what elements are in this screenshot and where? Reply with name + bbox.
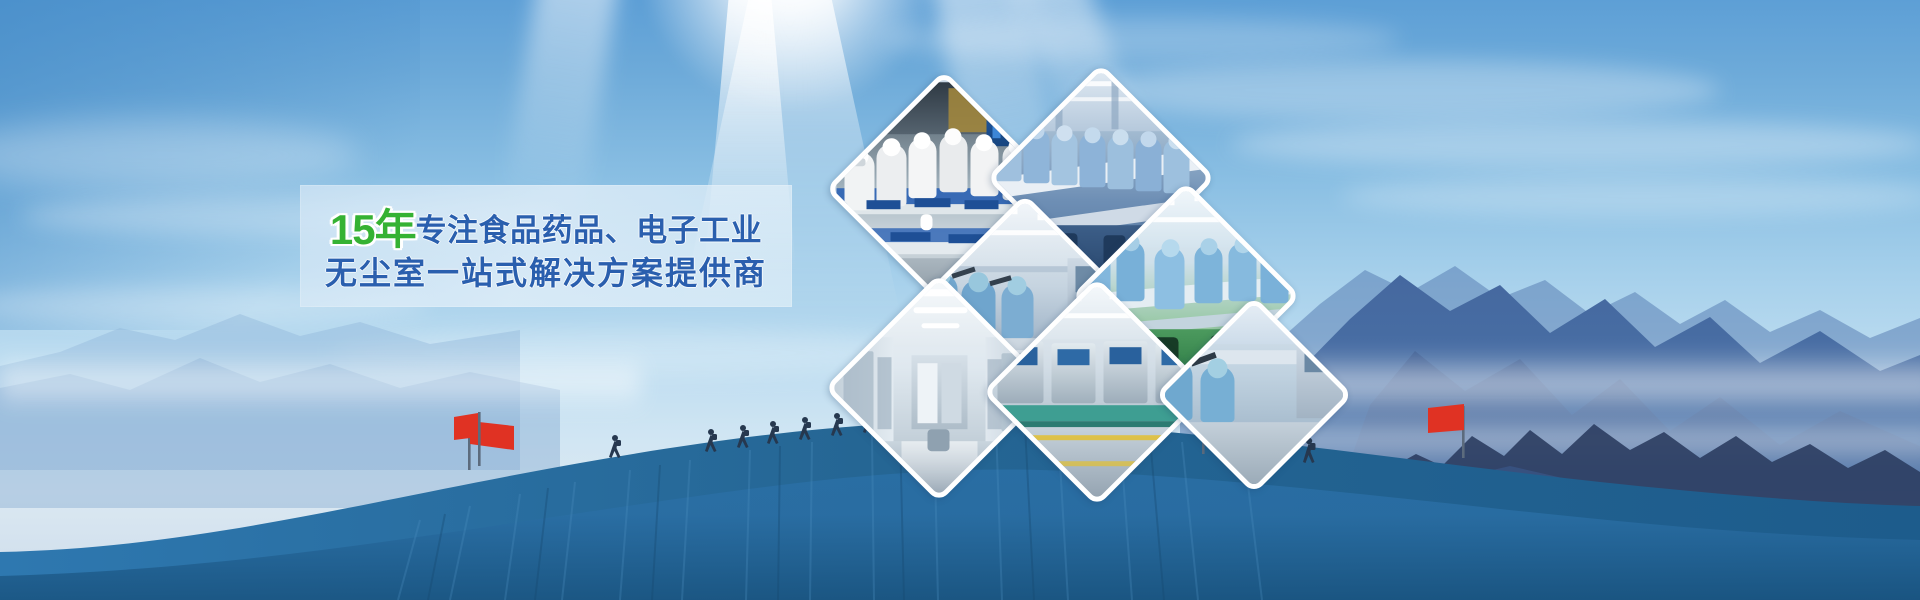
headline-panel: 15年专注食品药品、电子工业 无尘室一站式解决方案提供商 [300, 185, 792, 307]
years-badge: 15年 [330, 206, 416, 253]
climber-2 [705, 429, 717, 452]
cloud-right-2 [1230, 120, 1920, 168]
flag-right [1428, 404, 1465, 458]
headline-line-2: 无尘室一站式解决方案提供商 [300, 257, 792, 289]
cloud-right-3 [1340, 176, 1920, 216]
headline-line-1-rest: 专注食品药品、电子工业 [416, 213, 763, 248]
sun-icon [640, 0, 940, 110]
headline-line-1: 15年专注食品药品、电子工业 [300, 209, 792, 251]
hero-banner: 15年专注食品药品、电子工业 无尘室一站式解决方案提供商 [0, 0, 1920, 600]
diamond-photo-collage [840, 95, 1280, 465]
cloud-top-1 [880, 18, 1400, 60]
climber-3 [737, 425, 749, 448]
climber-1 [609, 435, 621, 458]
headline-line-2-text: 无尘室一站式解决方案提供商 [325, 255, 767, 291]
flag-far-left [450, 408, 510, 468]
climber-5 [799, 417, 811, 440]
climber-4 [767, 421, 779, 444]
